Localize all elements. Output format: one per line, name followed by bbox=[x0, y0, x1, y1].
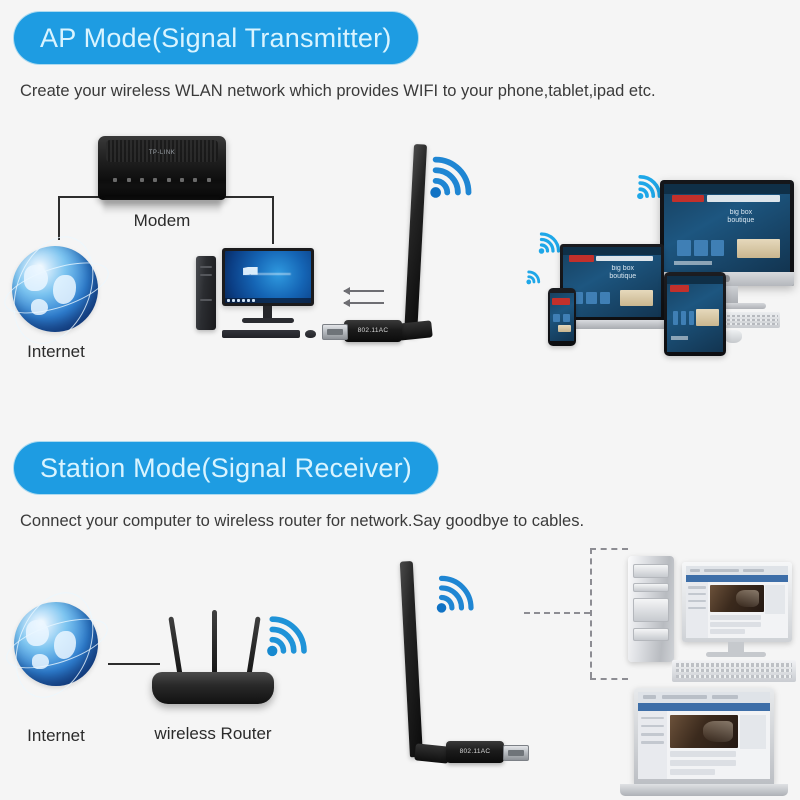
adapter-hinge-station bbox=[414, 743, 450, 763]
imac-screen-title-line1: big box bbox=[702, 209, 780, 217]
modem-label: Modem bbox=[98, 211, 226, 231]
browser-chrome-bar bbox=[686, 566, 788, 575]
adapter-usb-connector bbox=[322, 324, 348, 340]
imac-screen-title-line2: boutique bbox=[702, 217, 780, 225]
adapter-hinge bbox=[397, 320, 433, 340]
router-antenna-right bbox=[246, 616, 261, 678]
wireless-router-device bbox=[152, 672, 274, 704]
macbook-screen-title: big box boutique bbox=[592, 265, 653, 280]
station-mode-section: Station Mode(Signal Receiver) Connect yo… bbox=[0, 420, 800, 800]
wifi-signal-icon-adapter-station bbox=[432, 568, 484, 620]
internet-globe-icon bbox=[12, 246, 98, 332]
adapter-model-label-station: 802.11AC bbox=[446, 748, 504, 755]
internet-label-ap: Internet bbox=[0, 342, 112, 362]
station-desktop-screen bbox=[686, 566, 788, 638]
adapter-usb-connector-station bbox=[503, 745, 529, 761]
desktop-tower bbox=[196, 256, 216, 330]
imac-screen: big box boutique bbox=[664, 184, 790, 272]
adapter-body-station: 802.11AC bbox=[446, 741, 504, 763]
dashed-trunk-line bbox=[524, 612, 590, 614]
desktop-mouse bbox=[305, 330, 316, 338]
laptop-browser-chrome-bar bbox=[638, 692, 770, 703]
station-mode-description: Connect your computer to wireless router… bbox=[20, 512, 584, 531]
router-antenna-center bbox=[212, 610, 217, 678]
internet-globe-icon-station bbox=[14, 602, 98, 686]
imac-screen-red-tab bbox=[672, 195, 705, 203]
station-laptop bbox=[634, 688, 774, 784]
ipad-screen bbox=[667, 276, 723, 352]
wifi-signal-icon-router bbox=[262, 608, 318, 664]
station-laptop-screen bbox=[638, 692, 770, 779]
windows-desktop-screen bbox=[225, 251, 311, 303]
wifi-signal-icon-phone bbox=[524, 262, 550, 288]
internet-to-router-line bbox=[108, 663, 160, 665]
modem-device: TP-LINK bbox=[98, 136, 226, 200]
ap-mode-banner: AP Mode(Signal Transmitter) bbox=[14, 12, 418, 64]
adapter-antenna bbox=[404, 144, 427, 336]
dashed-branch-line bbox=[590, 548, 592, 678]
modem-brand-mark: TP-LINK bbox=[149, 150, 176, 156]
ipad-device bbox=[664, 272, 726, 356]
dashed-line-to-laptop bbox=[590, 678, 628, 680]
wireless-router-label: wireless Router bbox=[131, 724, 295, 744]
ap-mode-description: Create your wireless WLAN network which … bbox=[20, 82, 656, 101]
monitor-stand-neck bbox=[263, 306, 272, 318]
video-thumbnail bbox=[710, 585, 763, 612]
ap-mode-section: AP Mode(Signal Transmitter) Create your … bbox=[0, 0, 800, 420]
station-desktop-keyboard bbox=[672, 660, 796, 682]
station-monitor-foot bbox=[706, 652, 766, 657]
desktop-keyboard bbox=[222, 330, 300, 338]
station-desktop-monitor bbox=[682, 562, 792, 642]
station-mode-banner: Station Mode(Signal Receiver) bbox=[14, 442, 438, 494]
macbook-screen: big box boutique bbox=[563, 247, 661, 317]
modem-to-pc-line bbox=[272, 196, 274, 244]
imac-mouse bbox=[724, 330, 742, 343]
macbook-screen-title-line2: boutique bbox=[592, 273, 653, 281]
station-monitor-neck bbox=[728, 642, 744, 652]
modem-to-internet-line bbox=[58, 196, 60, 240]
desktop-monitor bbox=[222, 248, 314, 306]
internet-label-station: Internet bbox=[0, 726, 112, 746]
router-antenna-left bbox=[168, 616, 183, 678]
dashed-line-to-desktop bbox=[590, 548, 628, 550]
station-laptop-base bbox=[620, 784, 788, 796]
modem-led-row bbox=[113, 176, 210, 184]
adapter-model-label: 802.11AC bbox=[344, 327, 402, 334]
imac-screen-title: big box boutique bbox=[702, 207, 780, 226]
adapter-antenna-station bbox=[400, 561, 423, 757]
modem-front-panel bbox=[98, 186, 226, 200]
station-desktop-tower bbox=[628, 556, 674, 662]
iphone-screen bbox=[550, 293, 574, 341]
laptop-video-thumbnail bbox=[670, 715, 739, 748]
station-mode-banner-label: Station Mode(Signal Receiver) bbox=[40, 453, 412, 484]
monitor-stand-foot bbox=[242, 318, 294, 323]
macbook-screen-title-line1: big box bbox=[592, 265, 653, 273]
imac-device: big box boutique bbox=[660, 180, 794, 286]
windows-taskbar bbox=[225, 298, 311, 303]
iphone-device bbox=[548, 288, 576, 346]
windows-logo-icon bbox=[243, 267, 258, 285]
wifi-signal-icon-ap bbox=[425, 148, 483, 206]
adapter-body: 802.11AC bbox=[344, 320, 402, 342]
ap-mode-banner-label: AP Mode(Signal Transmitter) bbox=[40, 23, 392, 54]
